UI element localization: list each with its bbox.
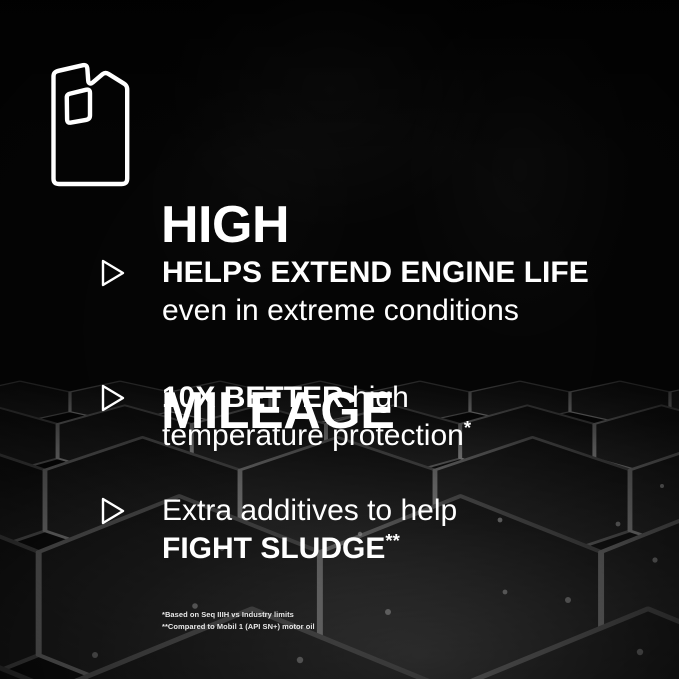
product-feature-panel: HIGH MILEAGE HELPS EXTEND ENGINE LIFE ev…	[0, 0, 679, 679]
feature-bullet-line-2: temperature protection*	[162, 417, 640, 455]
feature-bullet: Extra additives to help FIGHT SLUDGE**	[100, 492, 640, 568]
feature-bullet-text: Extra additives to help FIGHT SLUDGE**	[162, 492, 640, 568]
feature-bullet-emphasis-2: FIGHT SLUDGE	[162, 532, 385, 565]
feature-bullet-line-1: HELPS EXTEND ENGINE LIFE	[162, 254, 640, 292]
headline-line-1: HIGH	[161, 194, 394, 256]
feature-bullet: HELPS EXTEND ENGINE LIFE even in extreme…	[100, 254, 640, 330]
feature-bullet-text: 10X BETTER high temperature protection*	[162, 379, 640, 455]
feature-bullet-line-1: 10X BETTER high	[162, 379, 640, 417]
feature-bullet-rest: Extra additives to help	[162, 494, 457, 527]
feature-bullet-line-2: FIGHT SLUDGE**	[162, 530, 640, 568]
feature-bullet-plain: even in extreme conditions	[162, 294, 519, 327]
feature-bullet-rest: high	[344, 381, 409, 414]
triangle-right-icon	[100, 496, 126, 526]
feature-bullet-line-2: even in extreme conditions	[162, 292, 640, 330]
feature-bullet-plain: temperature protection	[162, 419, 464, 452]
footnote-2: **Compared to Mobil 1 (API SN+) motor oi…	[162, 621, 315, 633]
feature-bullet: 10X BETTER high temperature protection*	[100, 379, 640, 455]
footnote-marker: *	[464, 417, 471, 438]
feature-bullet-emphasis: 10X BETTER	[162, 381, 344, 414]
footnote-1: *Based on Seq IIIH vs Industry limits	[162, 609, 315, 621]
triangle-right-icon	[100, 383, 126, 413]
feature-bullet-emphasis: HELPS EXTEND ENGINE LIFE	[162, 256, 589, 289]
oil-jug-icon	[44, 58, 136, 192]
triangle-right-icon	[100, 258, 126, 288]
feature-bullet-line-1: Extra additives to help	[162, 492, 640, 530]
footnotes: *Based on Seq IIIH vs Industry limits **…	[162, 609, 315, 632]
footnote-marker: **	[385, 530, 399, 551]
feature-bullet-text: HELPS EXTEND ENGINE LIFE even in extreme…	[162, 254, 640, 330]
